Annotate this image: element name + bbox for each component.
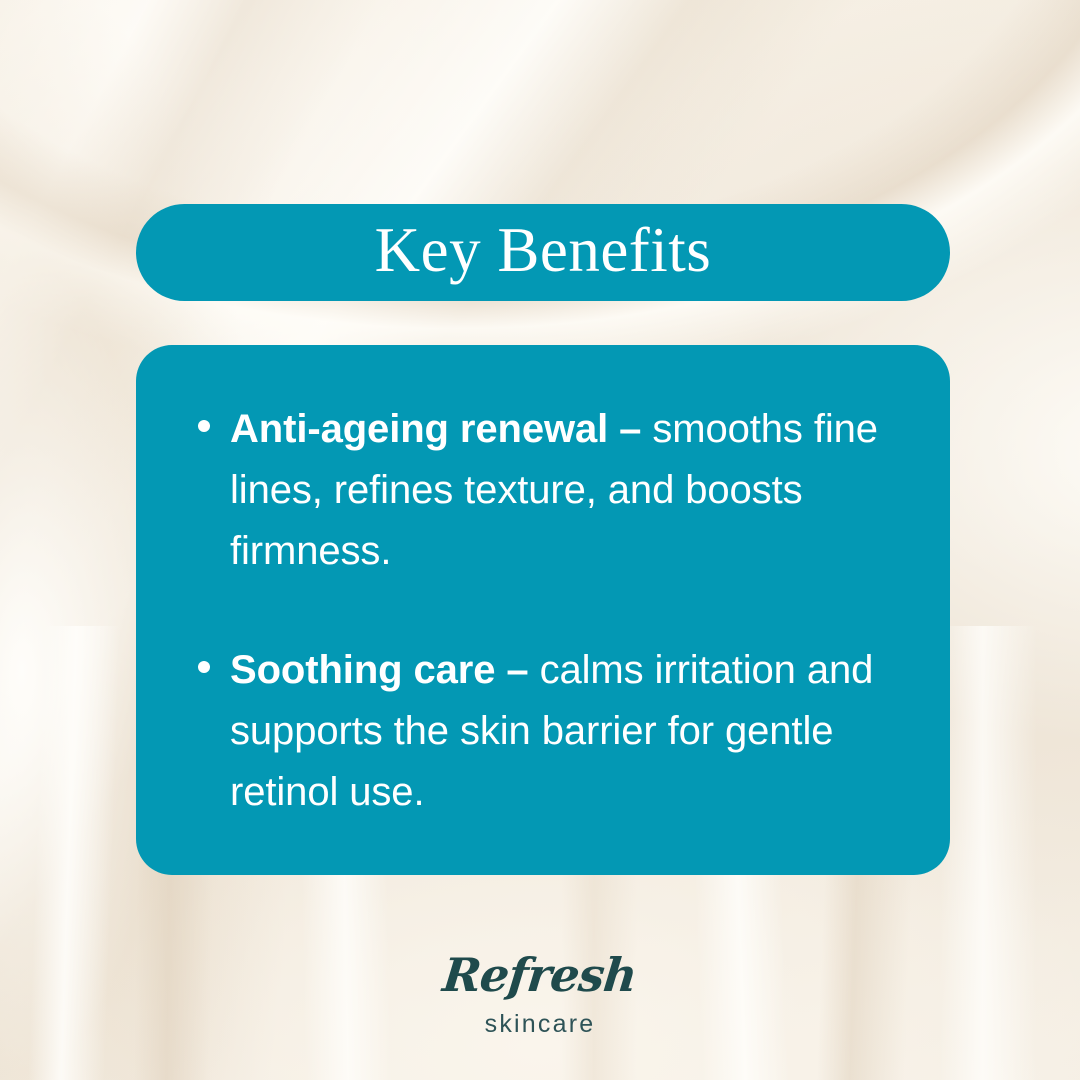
list-item: Anti-ageing renewal – smooths fine lines… [188,399,898,582]
benefit-text: Soothing care – calms irritation and sup… [230,640,898,823]
brand-name: Refresh [441,952,639,998]
poster-content: Key Benefits Anti-ageing renewal – smoot… [0,0,1080,1080]
benefit-lead-label: Soothing care [230,648,495,692]
list-item: Soothing care – calms irritation and sup… [188,640,898,823]
bullet-dot-icon [198,420,210,432]
bullet-dot-icon [198,661,210,673]
brand-tagline: skincare [0,1012,1080,1037]
benefit-lead-label: Anti-ageing renewal [230,407,608,451]
brand-logo: Refresh skincare [0,952,1080,1037]
benefit-separator: – [608,407,652,451]
benefit-text: Anti-ageing renewal – smooths fine lines… [230,399,898,582]
key-benefits-title-pill: Key Benefits [136,204,950,301]
page-title: Key Benefits [375,219,712,287]
benefits-card: Anti-ageing renewal – smooths fine lines… [136,345,950,875]
benefit-separator: – [495,648,539,692]
